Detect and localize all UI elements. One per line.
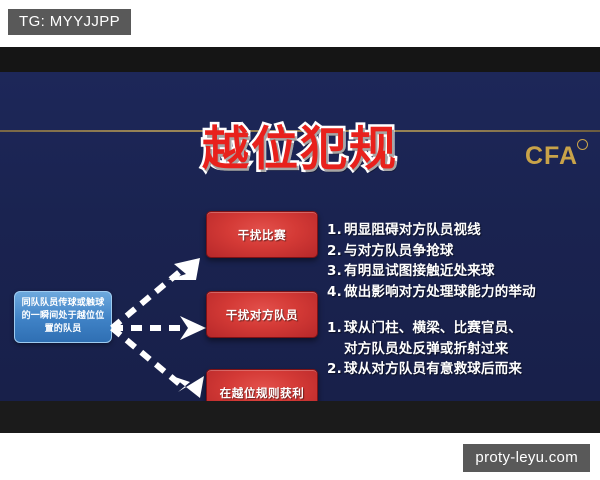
- branch-box-interfere-with-play: 干扰比赛: [206, 211, 318, 258]
- list-item: 2. 球从对方队员有意救球后而来: [327, 359, 589, 380]
- list-item-number: 1.: [327, 318, 344, 339]
- list-item-text: 明显阻碍对方队员视线: [344, 220, 589, 241]
- list-gain-advantage: 1. 球从门柱、横梁、比赛官员、 1. 对方队员处反弹或折射过来 2. 球从对方…: [327, 318, 589, 380]
- list-item-text: 球从门柱、横梁、比赛官员、: [344, 318, 589, 339]
- cfa-logo-text: CFA: [525, 142, 578, 170]
- slide-image: 越位犯规 CFA 同队队员传球或触球 的一瞬间处于越位位 置的队员 干扰比赛 干…: [0, 47, 600, 433]
- slide-letterbox-bottom: [0, 401, 600, 433]
- dashed-arrow-right-head: [180, 316, 206, 340]
- branch-box-label: 在越位规则获利: [220, 385, 305, 401]
- list-item-text: 与对方队员争抢球: [344, 241, 589, 262]
- list-item-text: 做出影响对方处理球能力的举动: [344, 282, 589, 303]
- list-item-number: 3.: [327, 261, 344, 282]
- branch-arrows: [110, 232, 215, 422]
- slide-letterbox-top: [0, 47, 600, 72]
- list-item-number: 2.: [327, 241, 344, 262]
- offside-definition-line-3: 置的队员: [19, 323, 107, 336]
- list-item-number: 4.: [327, 282, 344, 303]
- list-interfere-with-opponent: 1. 明显阻碍对方队员视线 2. 与对方队员争抢球 3. 有明显试图接触近处来球…: [327, 220, 589, 302]
- offside-definition-node: 同队队员传球或触球 的一瞬间处于越位位 置的队员: [14, 291, 112, 343]
- list-item: 2. 与对方队员争抢球: [327, 241, 589, 262]
- telegram-watermark: TG: MYYJJPP: [8, 9, 131, 35]
- branch-box-label: 干扰对方队员: [226, 307, 299, 323]
- page-title: 越位犯规: [0, 126, 600, 173]
- registered-circle-icon: [577, 139, 588, 150]
- list-item-text: 有明显试图接触近处来球: [344, 261, 589, 282]
- list-item: 1. 球从门柱、横梁、比赛官员、: [327, 318, 589, 339]
- offside-definition-line-2: 的一瞬间处于越位位: [19, 310, 107, 323]
- site-watermark: proty-leyu.com: [463, 444, 590, 472]
- list-item-number: 2.: [327, 359, 344, 380]
- list-item-number: 1.: [327, 220, 344, 241]
- list-item: 3. 有明显试图接触近处来球: [327, 261, 589, 282]
- list-item-text: 球从对方队员有意救球后而来: [344, 359, 589, 380]
- cfa-logo: CFA: [525, 144, 578, 169]
- dashed-arrow-up-line: [112, 270, 182, 328]
- branch-box-label: 干扰比赛: [238, 227, 286, 243]
- dashed-arrow-down-head: [172, 376, 204, 398]
- branch-box-interfere-with-opponent: 干扰对方队员: [206, 291, 318, 338]
- slide-content-area: 越位犯规 CFA 同队队员传球或触球 的一瞬间处于越位位 置的队员 干扰比赛 干…: [0, 72, 600, 401]
- list-item: 1. 明显阻碍对方队员视线: [327, 220, 589, 241]
- dashed-arrow-down-line: [112, 328, 182, 386]
- list-item-continuation: 1. 对方队员处反弹或折射过来: [327, 339, 589, 360]
- list-item: 4. 做出影响对方处理球能力的举动: [327, 282, 589, 303]
- list-item-text: 对方队员处反弹或折射过来: [344, 339, 589, 360]
- offside-definition-line-1: 同队队员传球或触球: [19, 297, 107, 310]
